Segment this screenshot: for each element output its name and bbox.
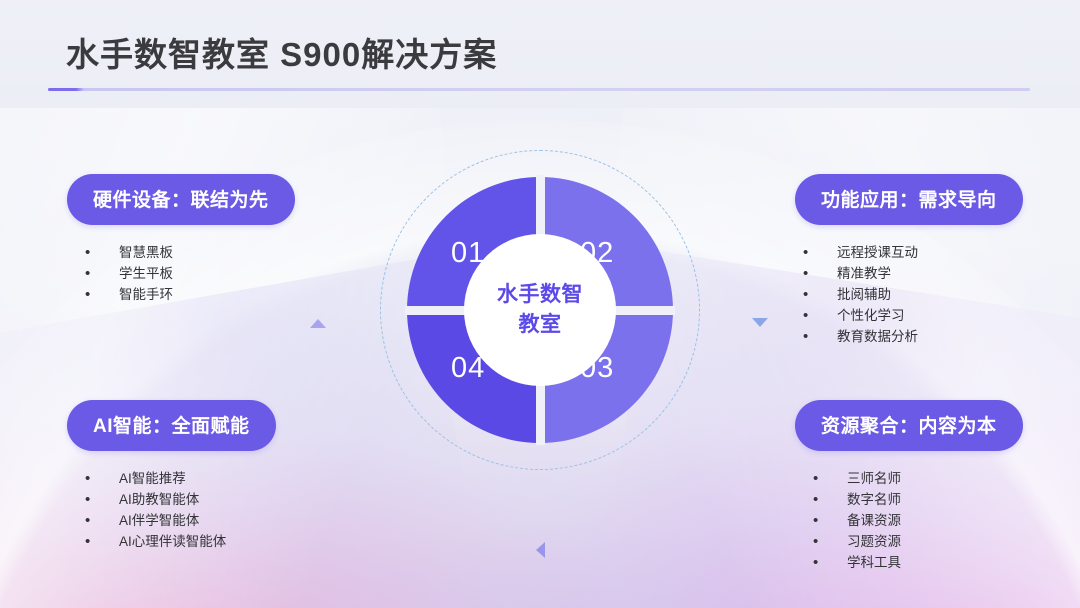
bullet-icon: • (803, 284, 837, 305)
list-item: • 数字名师 (813, 489, 1023, 510)
list-item: • AI智能推荐 (85, 468, 276, 489)
list-item: • 备课资源 (813, 510, 1023, 531)
bullet-icon: • (85, 510, 119, 531)
bullet-icon: • (85, 468, 119, 489)
donut-center-label: 水手数智 教室 (464, 234, 616, 386)
list-item-label: 三师名师 (847, 468, 901, 489)
list-item: • 三师名师 (813, 468, 1023, 489)
bullet-icon: • (813, 489, 847, 510)
panel-ai: AI智能：全面赋能 • AI智能推荐 • AI助教智能体 • AI伴学智能体 •… (67, 400, 276, 552)
list-item-label: 智能手环 (119, 284, 173, 305)
list-item-label: AI心理伴读智能体 (119, 531, 226, 552)
list-item: • AI伴学智能体 (85, 510, 276, 531)
center-label-line-1: 水手数智 (497, 280, 583, 310)
list-item: • 习题资源 (813, 531, 1023, 552)
list-item-label: 习题资源 (847, 531, 901, 552)
panel-ai-pill[interactable]: AI智能：全面赋能 (67, 400, 276, 451)
triangle-up-icon (310, 319, 326, 328)
bullet-icon: • (85, 284, 119, 305)
list-item: • 远程授课互动 (803, 242, 1023, 263)
list-item-label: 数字名师 (847, 489, 901, 510)
triangle-left-icon (536, 542, 545, 558)
list-item: • AI心理伴读智能体 (85, 531, 276, 552)
center-label-line-2: 教室 (519, 310, 562, 340)
list-item: • 智慧黑板 (85, 242, 295, 263)
bullet-icon: • (85, 263, 119, 284)
donut-chart: 01 02 03 04 水手数智 教室 (407, 177, 673, 443)
list-item: • 批阅辅助 (803, 284, 1023, 305)
page-title: 水手数智教室 S900解决方案 (66, 28, 497, 76)
list-item-label: AI助教智能体 (119, 489, 199, 510)
bullet-icon: • (813, 468, 847, 489)
list-item: • 精准教学 (803, 263, 1023, 284)
title-divider (48, 88, 1030, 91)
bullet-icon: • (803, 305, 837, 326)
bullet-icon: • (813, 531, 847, 552)
list-item-label: 个性化学习 (837, 305, 905, 326)
panel-resource: 资源聚合：内容为本 • 三师名师 • 数字名师 • 备课资源 • 习题资源 • … (795, 400, 1023, 573)
list-item: • 个性化学习 (803, 305, 1023, 326)
list-item: • AI助教智能体 (85, 489, 276, 510)
list-item-label: 学生平板 (119, 263, 173, 284)
list-item-label: 批阅辅助 (837, 284, 891, 305)
list-item: • 学科工具 (813, 552, 1023, 573)
panel-resource-list: • 三师名师 • 数字名师 • 备课资源 • 习题资源 • 学科工具 (813, 468, 1023, 573)
panel-hardware-pill[interactable]: 硬件设备：联结为先 (67, 174, 295, 225)
triangle-down-icon (752, 318, 768, 327)
header: 水手数智教室 S900解决方案 (0, 0, 1080, 110)
panel-hardware: 硬件设备：联结为先 • 智慧黑板 • 学生平板 • 智能手环 (67, 174, 295, 305)
panel-resource-pill[interactable]: 资源聚合：内容为本 (795, 400, 1023, 451)
bullet-icon: • (803, 263, 837, 284)
list-item-label: 精准教学 (837, 263, 891, 284)
panel-function-pill[interactable]: 功能应用：需求导向 (795, 174, 1023, 225)
panel-function-list: • 远程授课互动 • 精准教学 • 批阅辅助 • 个性化学习 • 教育数据分析 (803, 242, 1023, 347)
center-diagram: 01 02 03 04 水手数智 教室 (380, 150, 700, 470)
panel-function: 功能应用：需求导向 • 远程授课互动 • 精准教学 • 批阅辅助 • 个性化学习… (795, 174, 1023, 347)
panel-ai-list: • AI智能推荐 • AI助教智能体 • AI伴学智能体 • AI心理伴读智能体 (85, 468, 276, 552)
bullet-icon: • (85, 242, 119, 263)
bullet-icon: • (803, 242, 837, 263)
list-item-label: 远程授课互动 (837, 242, 918, 263)
slide-canvas: 水手数智教室 S900解决方案 01 02 03 04 水手数智 教室 (0, 0, 1080, 608)
list-item-label: AI伴学智能体 (119, 510, 199, 531)
bullet-icon: • (803, 326, 837, 347)
list-item-label: 智慧黑板 (119, 242, 173, 263)
list-item-label: AI智能推荐 (119, 468, 186, 489)
list-item-label: 教育数据分析 (837, 326, 918, 347)
list-item-label: 备课资源 (847, 510, 901, 531)
list-item: • 教育数据分析 (803, 326, 1023, 347)
bullet-icon: • (85, 531, 119, 552)
bullet-icon: • (85, 489, 119, 510)
list-item-label: 学科工具 (847, 552, 901, 573)
bullet-icon: • (813, 552, 847, 573)
panel-hardware-list: • 智慧黑板 • 学生平板 • 智能手环 (85, 242, 295, 305)
bullet-icon: • (813, 510, 847, 531)
list-item: • 学生平板 (85, 263, 295, 284)
list-item: • 智能手环 (85, 284, 295, 305)
